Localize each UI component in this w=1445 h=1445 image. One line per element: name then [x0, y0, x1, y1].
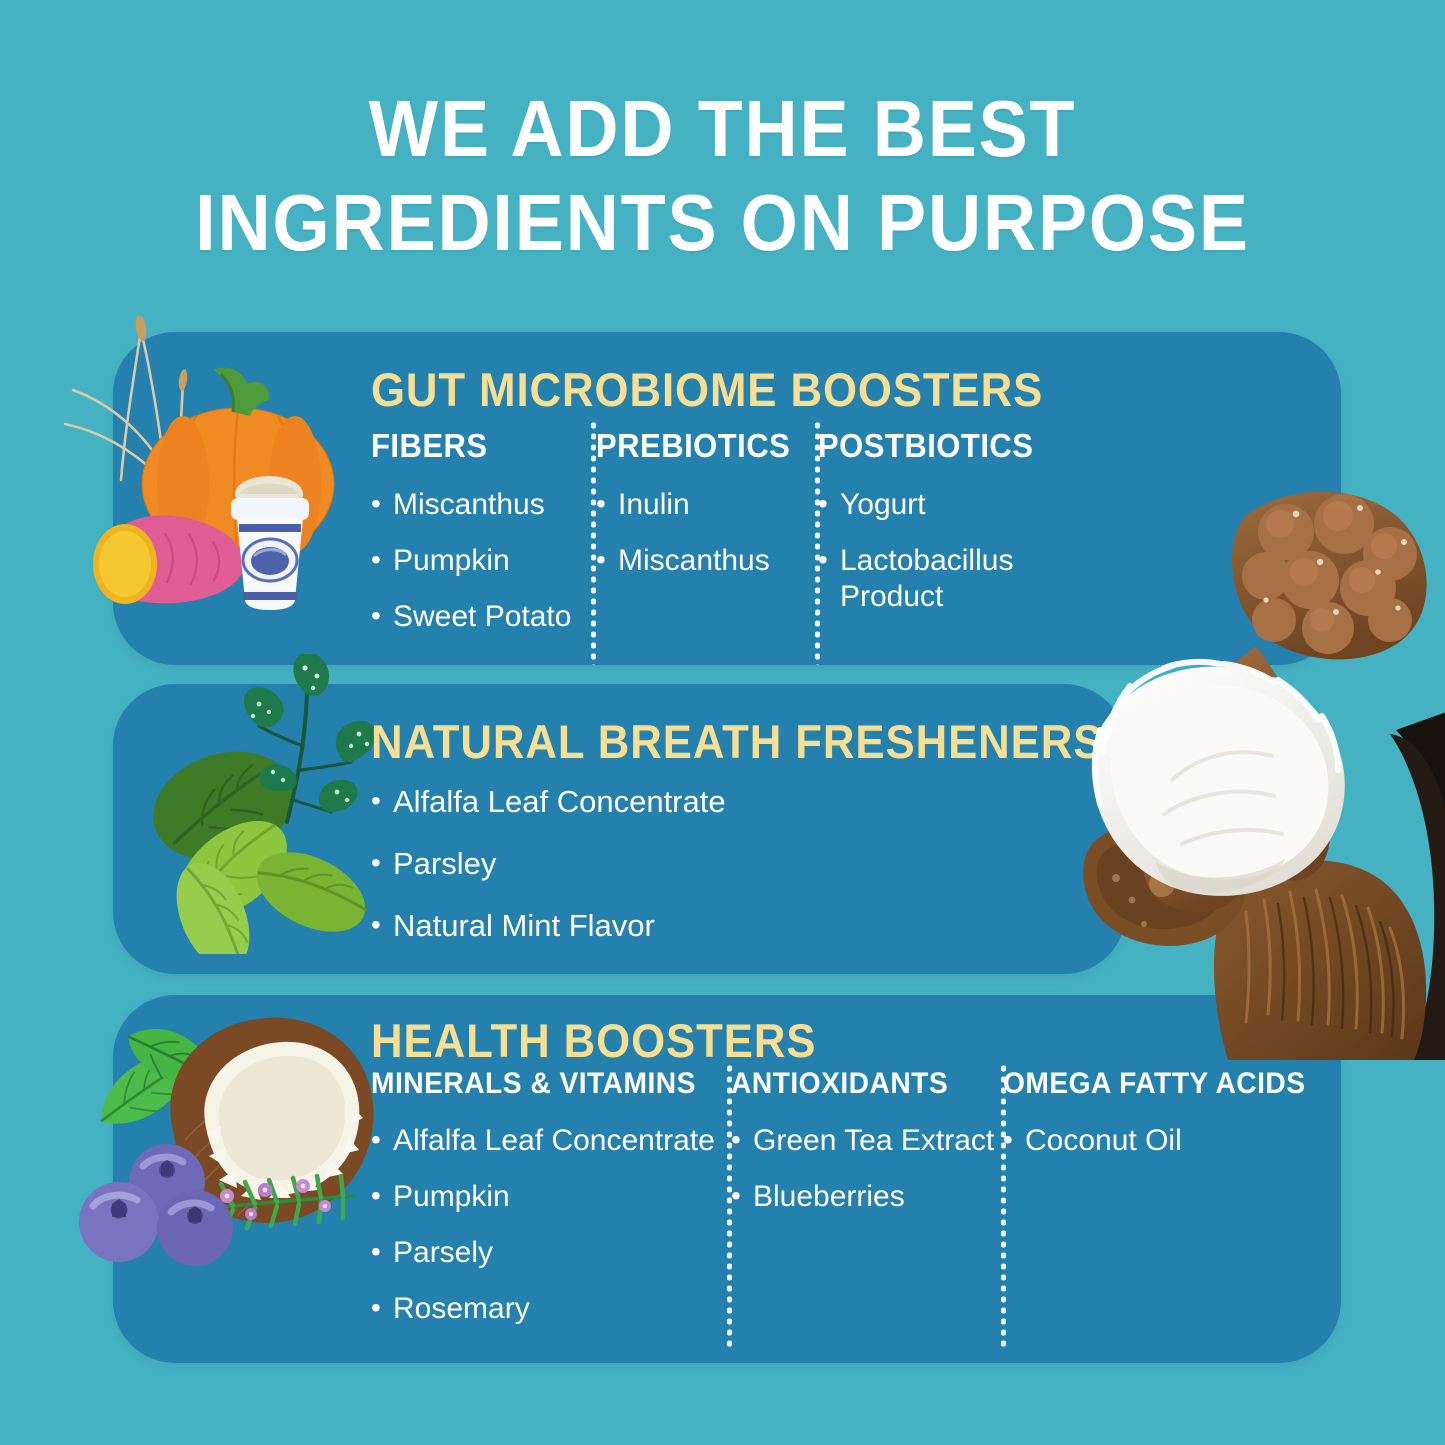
list-item: Pumpkin: [371, 1179, 731, 1215]
card-natural-breath-fresheners: NATURAL BREATH FRESHENERS Alfalfa Leaf C…: [113, 684, 1126, 974]
column-item-list: Yogurt Lactobacillus Product: [818, 487, 1068, 615]
column-title: FIBERS: [371, 427, 583, 465]
infographic-page: WE ADD THE BEST INGREDIENTS ON PURPOSE: [0, 0, 1445, 1445]
pumpkin-sweet-potato-yogurt-illustration: [63, 312, 393, 642]
list-item: Coconut Oil: [1003, 1123, 1303, 1159]
card3-columns: MINERALS & VITAMINS Alfalfa Leaf Concent…: [371, 1067, 1321, 1347]
list-item: Alfalfa Leaf Concentrate: [371, 784, 726, 820]
column-item-list: Coconut Oil: [1003, 1123, 1303, 1159]
list-item: Green Tea Extract: [731, 1123, 1003, 1159]
card-health-boosters: HEALTH BOOSTERS MINERALS & VITAMINS Alfa…: [113, 995, 1341, 1363]
list-item: Alfalfa Leaf Concentrate: [371, 1123, 731, 1159]
card2-heading: NATURAL BREATH FRESHENERS: [371, 714, 1103, 769]
list-item: Miscanthus: [596, 543, 818, 579]
list-item: Pumpkin: [371, 543, 596, 579]
column-title: PREBIOTICS: [596, 427, 805, 465]
card3-heading: HEALTH BOOSTERS: [371, 1013, 816, 1068]
page-title-line-1: WE ADD THE BEST: [58, 82, 1387, 176]
card1-column-postbiotics: POSTBIOTICS Yogurt Lactobacillus Product: [818, 427, 1068, 655]
column-item-list: Inulin Miscanthus: [596, 487, 818, 579]
alfalfa-parsley-mint-illustration: [73, 654, 403, 954]
list-item: Lactobacillus Product: [818, 543, 1068, 615]
page-title: WE ADD THE BEST INGREDIENTS ON PURPOSE: [58, 82, 1387, 270]
list-item: Rosemary: [371, 1291, 731, 1327]
card-gut-microbiome-boosters: GUT MICROBIOME BOOSTERS FIBERS Miscanthu…: [113, 332, 1341, 665]
column-title: ANTIOXIDANTS: [731, 1067, 987, 1101]
card2-item-list: Alfalfa Leaf Concentrate Parsley Natural…: [371, 784, 726, 970]
list-item: Sweet Potato: [371, 599, 596, 635]
list-item: Yogurt: [818, 487, 1068, 523]
coconut-blueberries-greentea-rosemary-illustration: [43, 1000, 383, 1310]
column-item-list: Green Tea Extract Blueberries: [731, 1123, 1003, 1215]
list-item: Parsely: [371, 1235, 731, 1271]
list-item: Natural Mint Flavor: [371, 908, 726, 944]
card1-column-prebiotics: PREBIOTICS Inulin Miscanthus: [596, 427, 818, 655]
list-item: Parsley: [371, 846, 726, 882]
column-title: POSTBIOTICS: [818, 427, 1053, 465]
card1-heading: GUT MICROBIOME BOOSTERS: [371, 362, 1043, 417]
card3-column-omega-fatty-acids: OMEGA FATTY ACIDS Coconut Oil: [1003, 1067, 1303, 1347]
column-title: OMEGA FATTY ACIDS: [1003, 1067, 1285, 1101]
card1-columns: FIBERS Miscanthus Pumpkin Sweet Potato P…: [371, 427, 1311, 655]
card1-column-fibers: FIBERS Miscanthus Pumpkin Sweet Potato: [371, 427, 596, 655]
page-title-line-2: INGREDIENTS ON PURPOSE: [58, 176, 1387, 270]
column-item-list: Miscanthus Pumpkin Sweet Potato: [371, 487, 596, 635]
column-item-list: Alfalfa Leaf Concentrate Pumpkin Parsely…: [371, 1123, 731, 1327]
card3-column-minerals-vitamins: MINERALS & VITAMINS Alfalfa Leaf Concent…: [371, 1067, 731, 1347]
card3-column-antioxidants: ANTIOXIDANTS Green Tea Extract Blueberri…: [731, 1067, 1003, 1347]
column-title: MINERALS & VITAMINS: [371, 1067, 709, 1101]
list-item: Miscanthus: [371, 487, 596, 523]
list-item: Inulin: [596, 487, 818, 523]
list-item: Blueberries: [731, 1179, 1003, 1215]
